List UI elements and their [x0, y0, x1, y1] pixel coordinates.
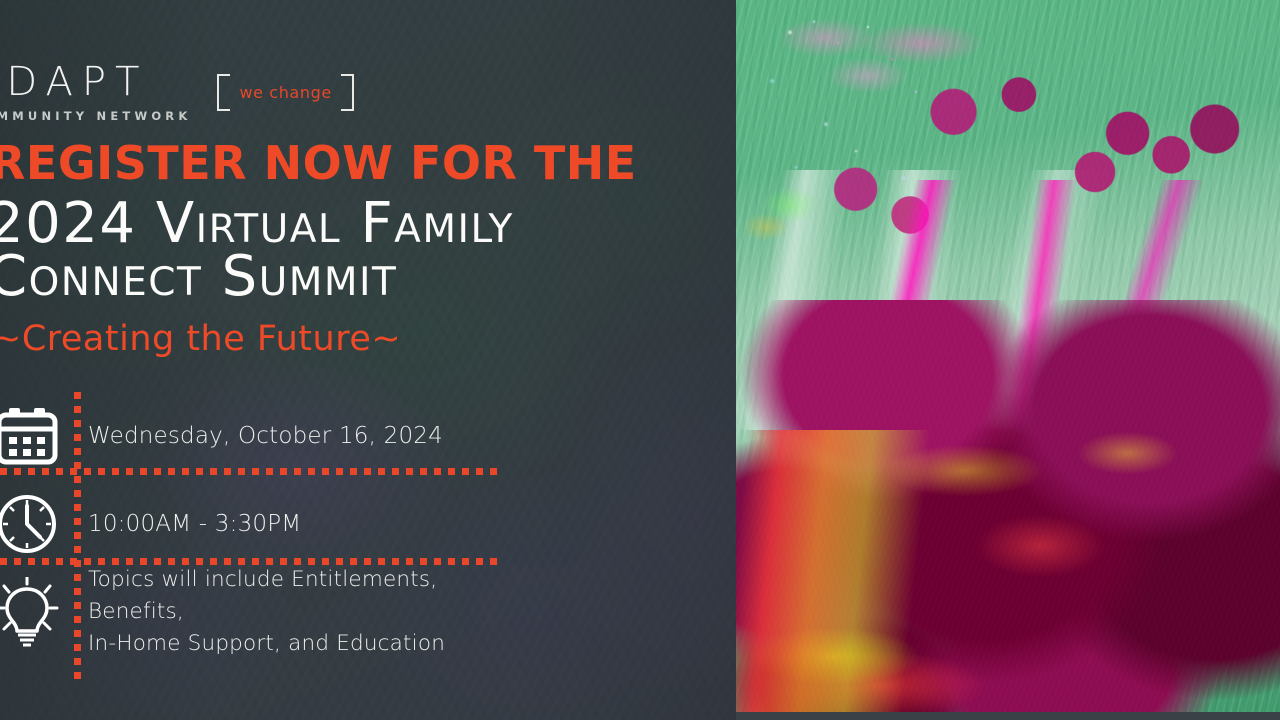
event-promo-banner: ADAPT COMMUNITY NETWORK we change REGIST… [0, 0, 1280, 720]
clock-icon [0, 480, 66, 568]
page-title: 2024 Virtual Family Connect Summit [0, 197, 514, 303]
horizontal-dotted-divider-1 [0, 468, 500, 475]
logo-tagline-bracket: we change [217, 74, 353, 111]
headline-kicker: REGISTER NOW FOR THE [0, 140, 637, 186]
abstract-painting-image [736, 0, 1280, 720]
event-time-text: 10:00AM - 3:30PM [88, 509, 301, 539]
title-line-2: Connect Summit [0, 250, 514, 303]
lightbulb-icon [0, 568, 66, 656]
event-topics-line-1: Topics will include Entitlements, Benefi… [88, 564, 518, 628]
event-topics-line-2: In-Home Support, and Education [88, 628, 518, 660]
art-noise-layer [736, 0, 1280, 720]
calendar-icon [0, 392, 66, 480]
horizontal-dotted-divider-2 [0, 558, 500, 565]
event-date-text: Wednesday, October 16, 2024 [88, 421, 443, 451]
logo-tagline-text: we change [239, 83, 331, 102]
art-bottom-edge [736, 712, 1280, 720]
logo-wordmark: ADAPT [0, 62, 191, 102]
adapt-logo: ADAPT COMMUNITY NETWORK we change [0, 62, 354, 123]
event-topics-text: Topics will include Entitlements, Benefi… [88, 564, 518, 660]
logo-subtitle: COMMUNITY NETWORK [0, 111, 191, 123]
logo-mark: ADAPT COMMUNITY NETWORK [0, 62, 191, 123]
title-line-1: 2024 Virtual Family [0, 197, 514, 250]
headline-subtitle: ~Creating the Future~ [0, 322, 401, 357]
vertical-dotted-divider [74, 392, 81, 680]
